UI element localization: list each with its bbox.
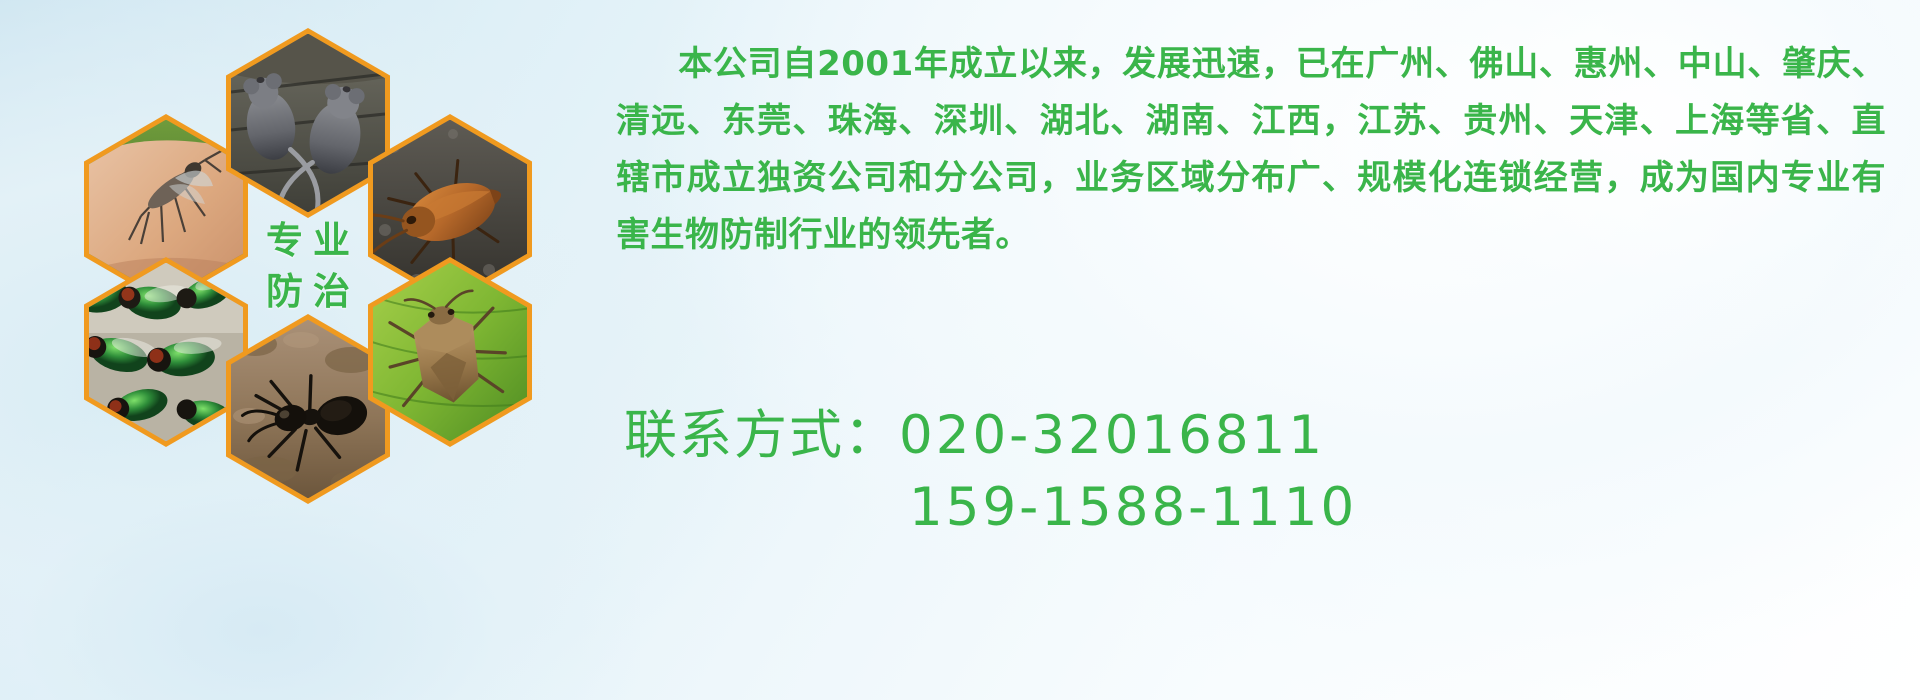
- contact-block: 联系方式：020-32016811 159-1588-1110: [624, 400, 1904, 544]
- stink-bug-icon: [373, 263, 527, 442]
- phone-secondary[interactable]: 159-1588-1110: [909, 477, 1357, 538]
- contact-line-secondary: 159-1588-1110: [624, 472, 1904, 544]
- company-description-text: 本公司自2001年成立以来，发展迅速，已在广州、佛山、惠州、中山、肇庆、清远、东…: [616, 44, 1886, 255]
- center-label-line1: 专业: [256, 222, 360, 259]
- company-description-paragraph: 本公司自2001年成立以来，发展迅速，已在广州、佛山、惠州、中山、肇庆、清远、东…: [616, 36, 1886, 264]
- honeycomb-photo-cluster: 专业 防治: [84, 14, 604, 574]
- hex-cell-stink-bug[interactable]: [368, 257, 532, 447]
- phone-primary[interactable]: 020-32016811: [899, 405, 1325, 466]
- flies-icon: [89, 263, 243, 442]
- company-description-block: 本公司自2001年成立以来，发展迅速，已在广州、佛山、惠州、中山、肇庆、清远、东…: [616, 36, 1886, 264]
- hex-cell-flies[interactable]: [84, 257, 248, 447]
- pest-control-banner: 专业 防治 本公司自2001年成立以来，发展迅速，已在广州、佛山、惠州、中山、肇…: [0, 0, 1920, 700]
- flies-photo: [89, 263, 243, 442]
- center-label-line2: 防治: [256, 273, 360, 310]
- hex-cell-center-label: 专业 防治: [226, 171, 390, 361]
- contact-line-primary: 联系方式：020-32016811: [624, 400, 1904, 472]
- stink-bug-photo: [373, 263, 527, 442]
- contact-label: 联系方式：: [624, 405, 899, 466]
- honeycomb-center-label: 专业 防治: [226, 171, 390, 361]
